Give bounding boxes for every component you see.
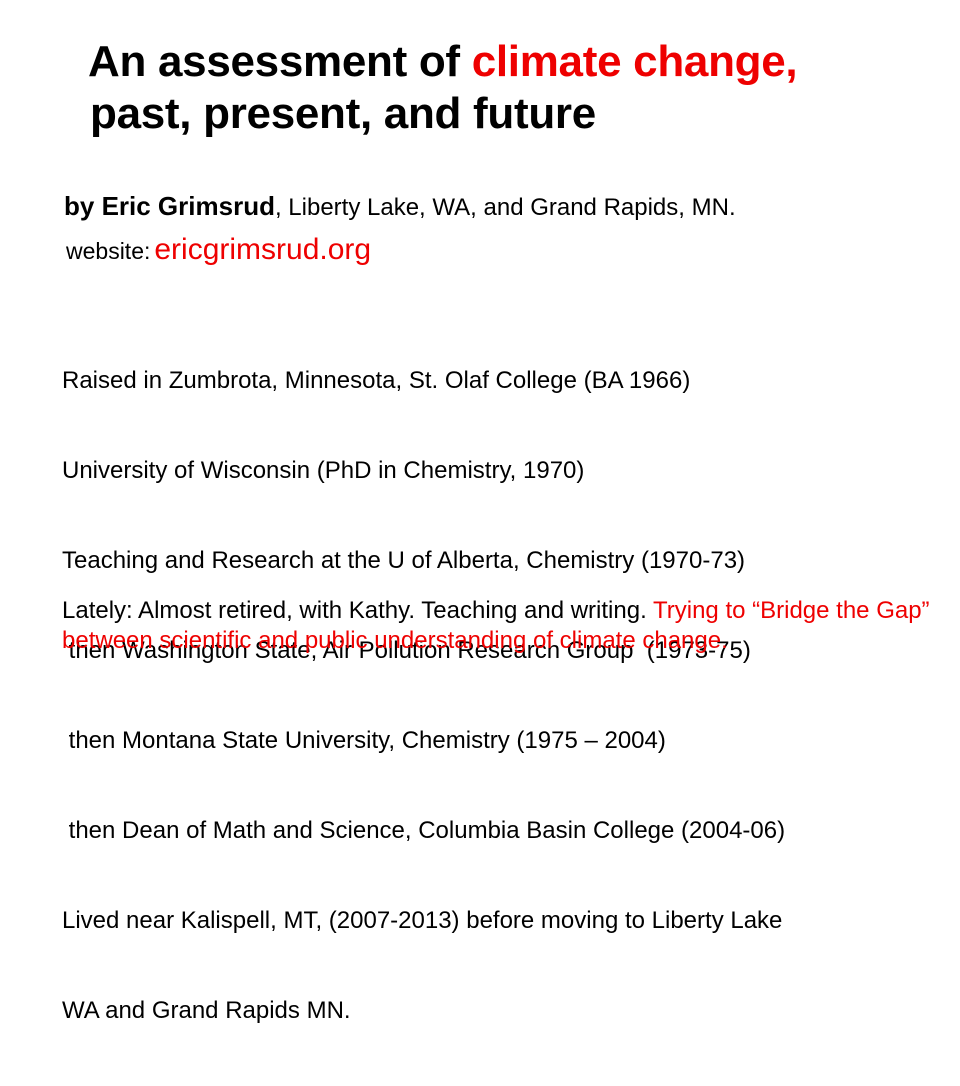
- title-part-red: climate change,: [472, 37, 798, 86]
- closing-paragraph: Lately: Almost retired, with Kathy. Teac…: [62, 596, 937, 656]
- website-line: website:ericgrimsrud.org: [66, 233, 371, 267]
- bio-line: University of Wisconsin (PhD in Chemistr…: [62, 456, 932, 486]
- bio-line: Teaching and Research at the U of Albert…: [62, 546, 932, 576]
- bio-line: then Montana State University, Chemistry…: [62, 726, 932, 756]
- bio-line: WA and Grand Rapids MN.: [62, 996, 932, 1026]
- byline-author-name: by Eric Grimsrud: [64, 191, 275, 221]
- page-title: An assessment of climate change, past, p…: [88, 36, 918, 140]
- title-line-2: past, present, and future: [90, 88, 918, 140]
- website-label: website:: [66, 238, 150, 264]
- title-line-1: An assessment of climate change,: [88, 36, 918, 88]
- title-part-black: An assessment of: [88, 37, 472, 86]
- website-url-link[interactable]: ericgrimsrud.org: [154, 233, 371, 266]
- bio-line: Lived near Kalispell, MT, (2007-2013) be…: [62, 906, 932, 936]
- biography-block: Raised in Zumbrota, Minnesota, St. Olaf …: [62, 306, 932, 1086]
- bio-line: then Dean of Math and Science, Columbia …: [62, 816, 932, 846]
- slide-canvas: An assessment of climate change, past, p…: [0, 0, 960, 720]
- bio-line: Raised in Zumbrota, Minnesota, St. Olaf …: [62, 366, 932, 396]
- closing-text-black: Lately: Almost retired, with Kathy. Teac…: [62, 597, 653, 624]
- byline-affiliation: , Liberty Lake, WA, and Grand Rapids, MN…: [275, 194, 736, 221]
- byline: by Eric Grimsrud, Liberty Lake, WA, and …: [64, 190, 736, 224]
